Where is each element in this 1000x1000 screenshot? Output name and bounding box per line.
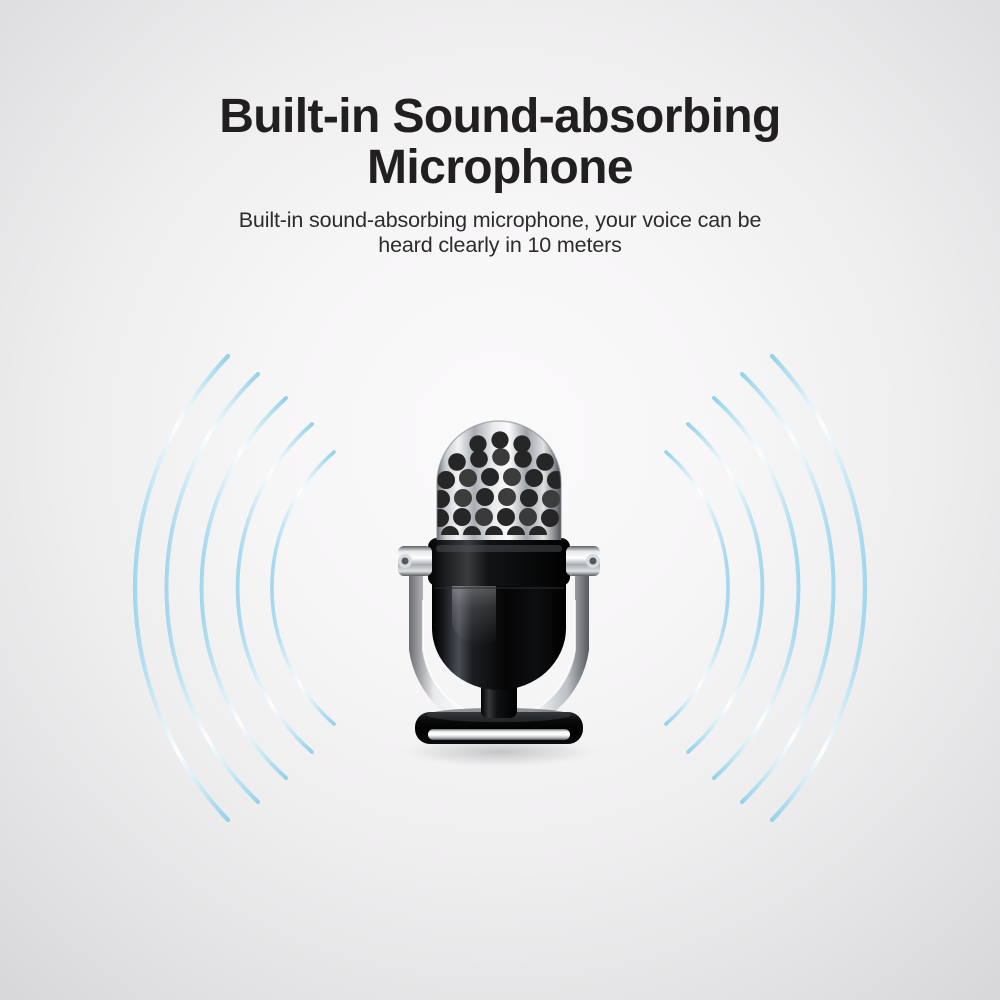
- page-subtitle: Built-in sound-absorbing microphone, you…: [150, 208, 850, 259]
- mic-base-chrome-rim: [428, 729, 570, 740]
- mic-knob-right: [566, 546, 600, 576]
- page-title: Built-in Sound-absorbing Microphone: [140, 92, 860, 194]
- mic-knob-left: [398, 546, 432, 576]
- subheadline-line-2: heard clearly in 10 meters: [378, 233, 621, 257]
- product-feature-banner: Built-in Sound-absorbing Microphone Buil…: [0, 0, 1000, 1000]
- headline-line-1: Built-in Sound-absorbing: [219, 90, 781, 143]
- subheadline-line-1: Built-in sound-absorbing microphone, you…: [239, 208, 762, 232]
- banner-text-block: Built-in Sound-absorbing Microphone Buil…: [0, 92, 1000, 258]
- mic-collar-highlight: [436, 545, 562, 552]
- headline-line-2: Microphone: [367, 141, 633, 194]
